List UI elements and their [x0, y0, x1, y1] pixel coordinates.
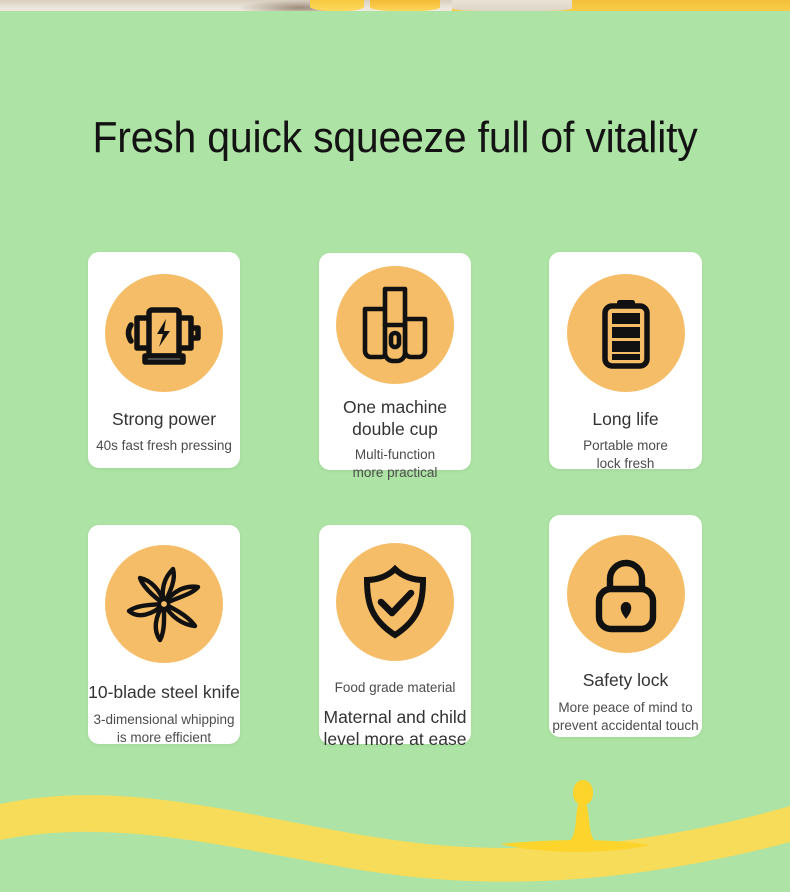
feature-text: One machine double cup Multi-function mo…	[319, 396, 471, 482]
feature-title: Safety lock	[583, 669, 669, 691]
feature-subtitle: Maternal and child level more at ease	[324, 706, 467, 750]
feature-subtitle: 3-dimensional whipping is more efficient	[93, 711, 234, 747]
feature-subtitle: Portable more lock fresh	[583, 437, 668, 473]
feature-title: Strong power	[112, 408, 216, 430]
feature-text: Food grade material Maternal and child l…	[319, 679, 471, 750]
feature-title: 10-blade steel knife	[88, 681, 240, 703]
shield-check-icon	[336, 543, 454, 661]
feature-card-safety-lock[interactable]: Safety lock More peace of mind to preven…	[549, 515, 702, 737]
product-photo-strip	[0, 0, 790, 11]
feature-row-top: Strong power 40s fast fresh pressing	[88, 252, 702, 472]
feature-text: Safety lock More peace of mind to preven…	[549, 669, 702, 735]
feature-card-grid: Strong power 40s fast fresh pressing	[88, 252, 702, 745]
page-title: Fresh quick squeeze full of vitality	[28, 112, 763, 164]
feature-card-strong-power[interactable]: Strong power 40s fast fresh pressing	[88, 252, 240, 468]
padlock-closed-icon	[567, 535, 685, 653]
feature-title: Long life	[592, 408, 658, 430]
double-cup-bottle-icon	[336, 266, 454, 384]
feature-card-food-grade[interactable]: Food grade material Maternal and child l…	[319, 525, 471, 744]
photo-fruit-slice-two	[370, 0, 440, 11]
bottom-wave-decoration	[0, 762, 790, 892]
feature-text: Strong power 40s fast fresh pressing	[88, 408, 240, 455]
battery-full-icon	[567, 274, 685, 392]
feature-title: Food grade material	[335, 679, 456, 697]
feature-subtitle: More peace of mind to prevent accidental…	[552, 699, 698, 735]
feature-card-double-cup[interactable]: One machine double cup Multi-function mo…	[319, 253, 471, 470]
juice-splash-cone	[566, 800, 598, 844]
blade-star-knife-icon	[105, 545, 223, 663]
blender-motor-power-icon	[105, 274, 223, 392]
feature-text: 10-blade steel knife 3-dimensional whipp…	[88, 681, 240, 747]
juice-droplet	[573, 780, 593, 805]
feature-card-long-life[interactable]: Long life Portable more lock fresh	[549, 252, 702, 469]
feature-subtitle: 40s fast fresh pressing	[96, 437, 232, 455]
product-feature-page: Fresh quick squeeze full of vitality	[0, 0, 790, 892]
feature-row-bottom: 10-blade steel knife 3-dimensional whipp…	[88, 515, 702, 745]
feature-card-steel-knife[interactable]: 10-blade steel knife 3-dimensional whipp…	[88, 525, 240, 744]
feature-subtitle: Multi-function more practical	[353, 446, 438, 482]
photo-fruit-slice-one	[310, 0, 364, 11]
feature-title: One machine double cup	[343, 396, 447, 440]
feature-text: Long life Portable more lock fresh	[549, 408, 702, 473]
photo-board	[452, 0, 572, 11]
